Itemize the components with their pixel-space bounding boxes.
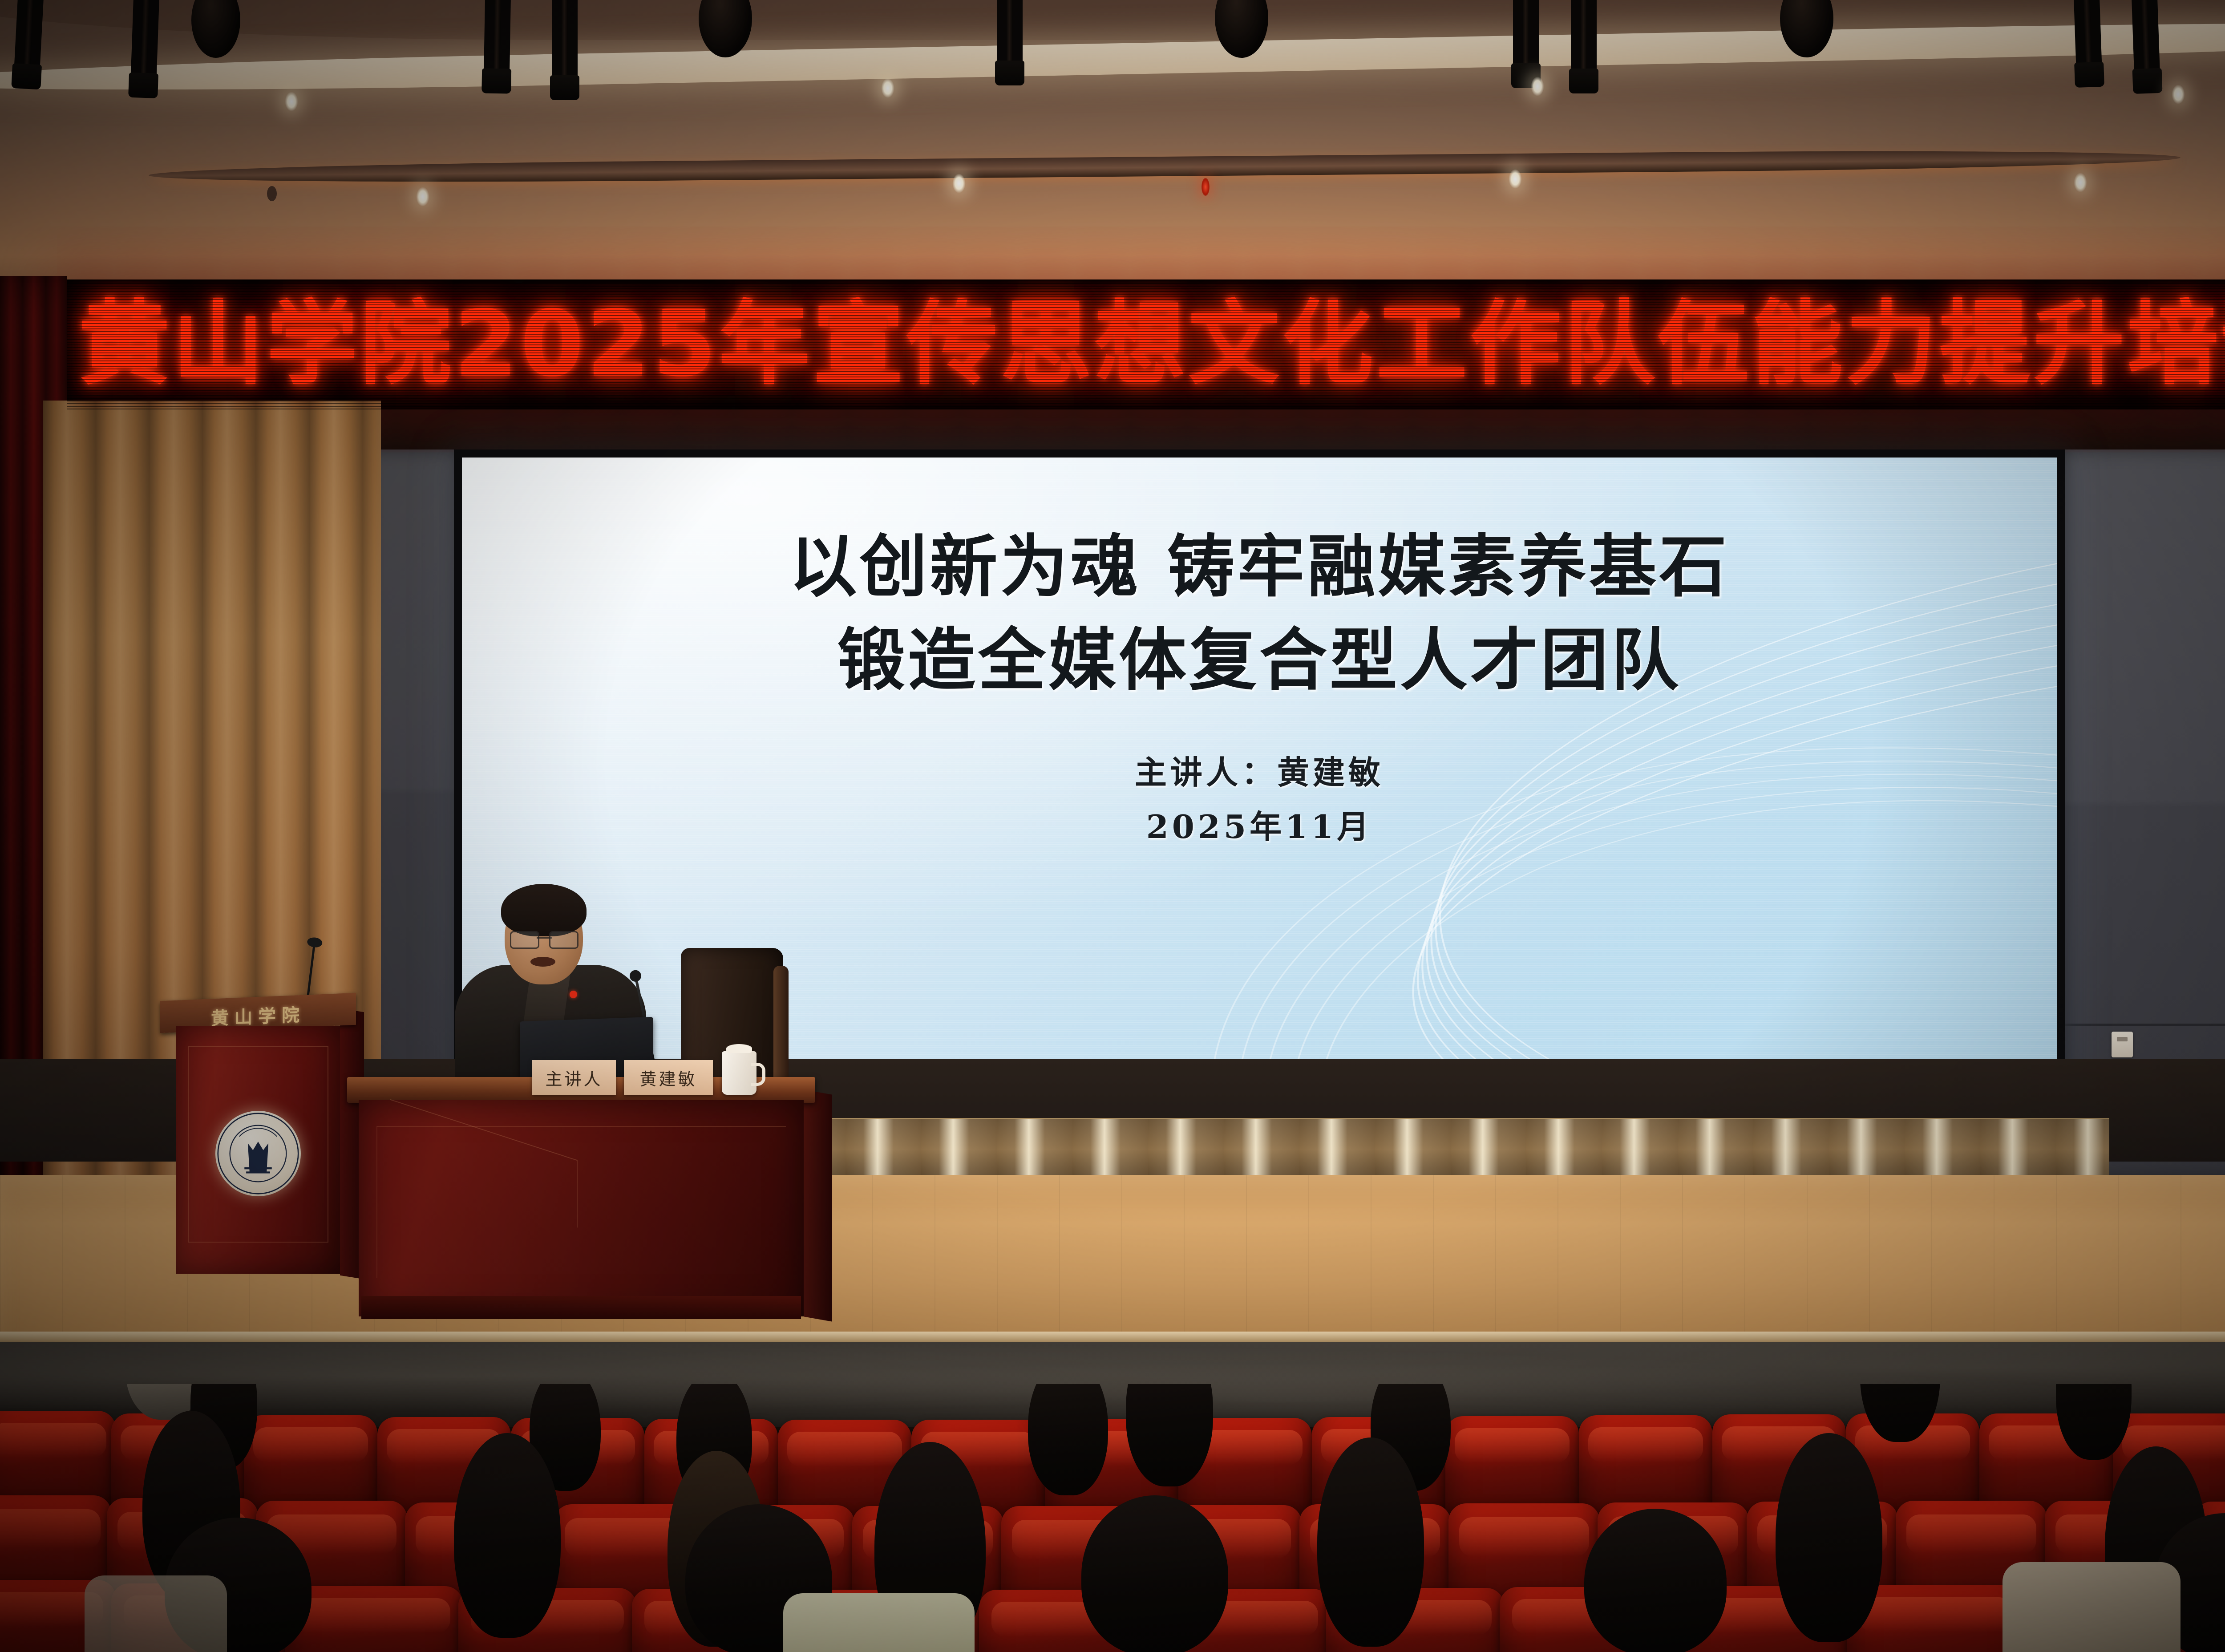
slide-title-line-1: 以创新为魂 铸牢融媒素养基石 <box>462 520 2057 613</box>
table-chevron-molding <box>390 1099 578 1227</box>
power-outlet[interactable] <box>2112 1032 2133 1057</box>
head-table <box>359 1077 804 1344</box>
recessed-downlight <box>416 187 429 206</box>
stage-light-fixture <box>552 0 578 93</box>
slide-date-line: 2025年11月 <box>462 801 2057 853</box>
recessed-downlight <box>2074 173 2087 192</box>
stage-edge-trim <box>0 1332 2225 1343</box>
wall-seam <box>2065 1024 2225 1026</box>
ceiling-groove <box>149 148 2180 185</box>
stage-light-fixture <box>1571 0 1597 86</box>
nameplate-name: 黄建敏 <box>624 1060 713 1095</box>
audience-head <box>1028 1384 1108 1495</box>
slide-text-block: 以创新为魂 铸牢融媒素养基石 锻造全媒体复合型人才团队 主讲人：黄建敏 2025… <box>462 520 2057 853</box>
recessed-downlight <box>1531 77 1544 96</box>
stage-light-fixture <box>2074 0 2102 81</box>
podium: 黄山学院 <box>176 997 340 1273</box>
audience-head <box>1776 1433 1882 1642</box>
speaker-glasses <box>510 931 578 946</box>
slide-title-line-2: 锻造全媒体复合型人才团队 <box>462 613 2057 707</box>
lecture-hall-photo: 黄山学院2025年宣传思想文化工作队伍能力提升培训班 <box>0 0 2225 1652</box>
ceiling-vent <box>267 186 277 201</box>
audience-clothing <box>783 1593 975 1652</box>
speaker-mouth <box>530 957 555 967</box>
audience-head <box>1081 1495 1228 1652</box>
slide-speaker-line: 主讲人：黄建敏 <box>462 747 2057 799</box>
recessed-downlight <box>881 78 894 98</box>
audience-clothing <box>2002 1562 2180 1652</box>
seat[interactable] <box>285 1586 463 1652</box>
recessed-downlight <box>1509 169 1522 189</box>
tea-cup <box>722 1051 756 1095</box>
audience-head <box>1317 1437 1424 1647</box>
stage-light-fixture <box>2132 0 2160 87</box>
stage-light-fixture <box>130 0 159 91</box>
stage-light-fixture <box>997 0 1023 78</box>
recessed-downlight <box>285 92 298 111</box>
ceiling-indicator-light <box>1201 178 1210 196</box>
nameplate-role: 主讲人 <box>532 1060 616 1095</box>
table-side-panel <box>804 1089 832 1321</box>
stage-light-fixture <box>484 0 511 86</box>
podium-body <box>176 1026 340 1274</box>
table-base <box>361 1296 801 1319</box>
audience-clothing <box>85 1575 227 1652</box>
audience-head <box>1584 1509 1727 1652</box>
university-emblem <box>215 1111 301 1196</box>
ceiling-speaker <box>699 0 752 57</box>
speaker-lapel-badge <box>570 991 577 998</box>
stage-light-fixture <box>13 0 44 82</box>
audience-head <box>454 1433 561 1638</box>
recessed-downlight <box>2172 85 2185 104</box>
led-banner-text: 黄山学院2025年宣传思想文化工作队伍能力提升培训班 <box>67 299 2225 390</box>
ceiling-speaker <box>191 0 240 58</box>
speaker-hair <box>501 884 587 936</box>
audience-area <box>0 1384 2225 1652</box>
led-banner: 黄山学院2025年宣传思想文化工作队伍能力提升培训班 <box>67 279 2225 409</box>
recessed-downlight <box>952 174 966 193</box>
table-front-panel <box>359 1100 804 1316</box>
emblem-graphic <box>215 1111 301 1196</box>
ceiling <box>0 0 2225 312</box>
stage-light-fixture <box>1513 0 1539 81</box>
